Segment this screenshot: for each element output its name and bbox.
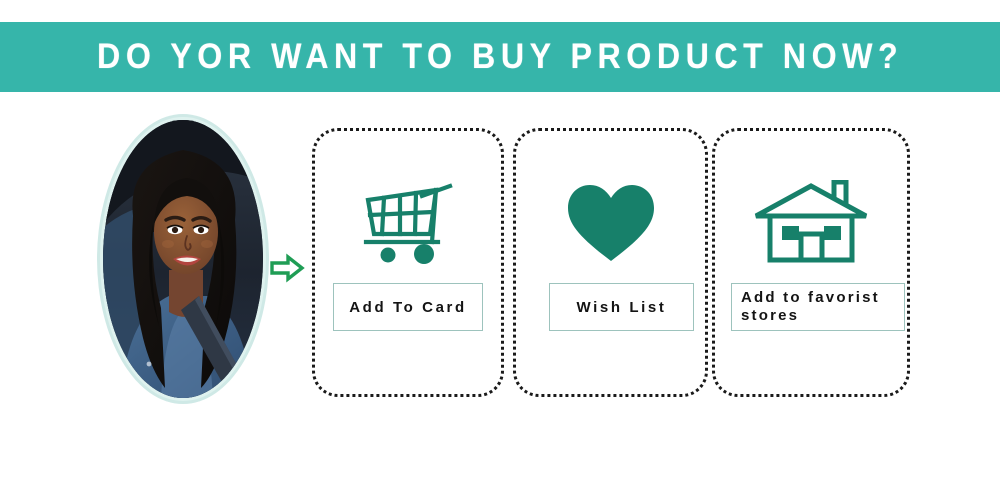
card-add-to-card[interactable]: Add To Card — [312, 128, 504, 397]
add-to-favorist-stores-button[interactable]: Add to favorist stores — [731, 283, 905, 331]
add-to-card-button-label: Add To Card — [349, 299, 466, 316]
house-window-right — [824, 226, 841, 240]
heart-icon — [516, 171, 705, 275]
arrow-right-glyph — [268, 252, 306, 284]
shopping-cart-icon — [315, 171, 501, 275]
portrait-photo — [103, 120, 263, 398]
card-add-to-favorist-stores[interactable]: Add to favorist stores — [712, 128, 910, 397]
arrow-right-icon — [268, 252, 306, 284]
wish-list-button-label: Wish List — [577, 299, 667, 316]
add-to-card-button[interactable]: Add To Card — [333, 283, 483, 331]
favorist-label-line-2: stores — [741, 307, 880, 325]
cart-wheel-left — [381, 248, 396, 263]
shopping-cart-glyph — [358, 180, 458, 266]
page-title: DO YOR WANT TO BUY PRODUCT NOW? — [97, 37, 903, 77]
heart-glyph — [564, 181, 658, 265]
cart-wheel-right — [414, 244, 434, 264]
add-to-favorist-stores-button-label: Add to favorist stores — [741, 289, 880, 325]
favorist-label-line-1: Add to favorist — [741, 289, 880, 307]
header-banner: DO YOR WANT TO BUY PRODUCT NOW? — [0, 22, 1000, 92]
wish-list-button[interactable]: Wish List — [549, 283, 694, 331]
portrait-illustration — [103, 120, 263, 398]
avatar — [100, 117, 266, 401]
house-window-left — [782, 226, 799, 240]
card-wish-list[interactable]: Wish List — [513, 128, 708, 397]
house-icon — [715, 171, 907, 275]
house-glyph — [752, 180, 870, 266]
